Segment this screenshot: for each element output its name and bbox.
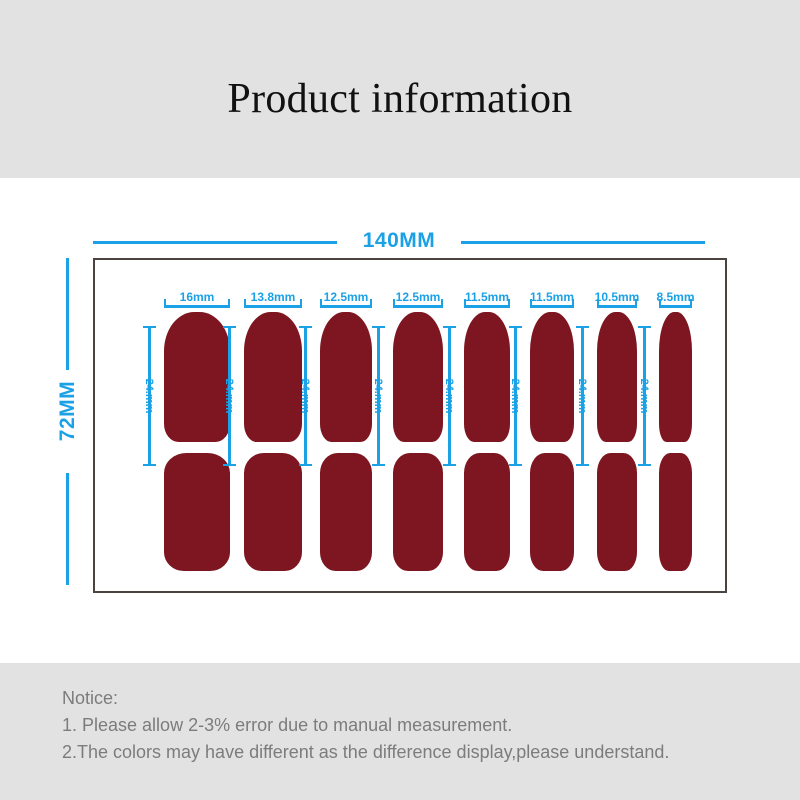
nail-height-dimension-1: 24.mm xyxy=(142,326,156,466)
height-dimension-cap-b xyxy=(223,464,236,466)
nail-height-dimension-8: 24.mm xyxy=(637,326,651,466)
height-dimension-cap-t xyxy=(223,326,236,328)
height-dimension-cap-t xyxy=(638,326,651,328)
width-dimension-bar xyxy=(244,305,302,308)
notice-block: Notice: 1. Please allow 2-3% error due t… xyxy=(62,685,772,766)
notice-line-2: 2.The colors may have different as the d… xyxy=(62,739,772,766)
overall-height-label: 72MM xyxy=(56,350,80,472)
height-dimension-cap-t xyxy=(372,326,385,328)
overall-width-label: 140MM xyxy=(93,230,705,252)
nail-sticker-bottom-3 xyxy=(320,453,372,571)
product-information-page: Product information 140MM 72MM 16mm24.mm… xyxy=(0,0,800,800)
nail-sticker-bottom-5 xyxy=(464,453,510,571)
nail-sticker-top-4 xyxy=(393,312,443,442)
height-dimension-cap-t xyxy=(443,326,456,328)
nail-width-dimension-1: 16mm xyxy=(164,286,230,308)
overall-width-dimension: 140MM xyxy=(93,230,705,252)
nail-height-label-6: 24.mm xyxy=(509,379,521,414)
nail-grid: 16mm24.mm13.8mm24.mm12.5mm24.mm12.5mm24.… xyxy=(95,260,729,595)
nail-sticker-bottom-2 xyxy=(244,453,302,571)
nail-height-dimension-7: 24.mm xyxy=(575,326,589,466)
nail-height-dimension-6: 24.mm xyxy=(508,326,522,466)
nail-height-label-3: 24.mm xyxy=(299,379,311,414)
nail-sticker-bottom-1 xyxy=(164,453,230,571)
nail-width-label-2: 13.8mm xyxy=(230,291,316,304)
nail-sticker-top-1 xyxy=(164,312,230,442)
nail-width-label-3: 12.5mm xyxy=(306,291,386,304)
width-dimension-bar xyxy=(464,305,510,308)
nail-width-dimension-7: 10.5mm xyxy=(597,286,637,308)
width-dimension-bar xyxy=(597,305,637,308)
nail-height-label-4: 24.mm xyxy=(372,379,384,414)
nail-width-label-8: 8.5mm xyxy=(645,291,706,304)
nail-height-label-1: 24.mm xyxy=(143,379,155,414)
nail-height-dimension-4: 24.mm xyxy=(371,326,385,466)
nail-width-dimension-3: 12.5mm xyxy=(320,286,372,308)
height-dimension-cap-b xyxy=(509,464,522,466)
width-dimension-bar xyxy=(164,305,230,308)
page-title: Product information xyxy=(0,74,800,124)
notice-heading: Notice: xyxy=(62,685,772,712)
nail-sticker-bottom-8 xyxy=(659,453,692,571)
nail-height-dimension-2: 24.mm xyxy=(222,326,236,466)
overall-height-dimension: 72MM xyxy=(55,258,81,585)
nail-width-dimension-8: 8.5mm xyxy=(659,286,692,308)
footer-band: Notice: 1. Please allow 2-3% error due t… xyxy=(0,663,800,800)
nail-width-label-7: 10.5mm xyxy=(583,291,651,304)
height-dimension-cap-b xyxy=(638,464,651,466)
nail-height-label-7: 24.mm xyxy=(576,379,588,414)
nail-height-label-5: 24.mm xyxy=(443,379,455,414)
nail-height-dimension-3: 24.mm xyxy=(298,326,312,466)
width-dimension-bar xyxy=(393,305,443,308)
height-dimension-cap-b xyxy=(372,464,385,466)
height-dimension-cap-b xyxy=(443,464,456,466)
nail-sticker-top-3 xyxy=(320,312,372,442)
height-dimension-cap-t xyxy=(576,326,589,328)
height-dimension-cap-b xyxy=(143,464,156,466)
nail-sticker-top-6 xyxy=(530,312,574,442)
height-dimension-cap-b xyxy=(576,464,589,466)
nail-sticker-bottom-7 xyxy=(597,453,637,571)
nail-width-dimension-4: 12.5mm xyxy=(393,286,443,308)
nail-width-dimension-5: 11.5mm xyxy=(464,286,510,308)
height-dimension-cap-t xyxy=(509,326,522,328)
nail-sticker-bottom-4 xyxy=(393,453,443,571)
height-dimension-cap-t xyxy=(299,326,312,328)
notice-line-1: 1. Please allow 2-3% error due to manual… xyxy=(62,712,772,739)
width-dimension-bar xyxy=(530,305,574,308)
nail-sticker-bottom-6 xyxy=(530,453,574,571)
height-dimension-line-bottom xyxy=(66,473,69,585)
nail-height-label-8: 24.mm xyxy=(638,379,650,414)
nail-width-dimension-6: 11.5mm xyxy=(530,286,574,308)
height-dimension-cap-t xyxy=(143,326,156,328)
height-dimension-cap-b xyxy=(299,464,312,466)
nail-sticker-top-5 xyxy=(464,312,510,442)
nail-width-label-4: 12.5mm xyxy=(379,291,457,304)
nail-width-dimension-2: 13.8mm xyxy=(244,286,302,308)
nail-height-label-2: 24.mm xyxy=(223,379,235,414)
header-band: Product information xyxy=(0,0,800,178)
nail-sticker-top-8 xyxy=(659,312,692,442)
nail-height-dimension-5: 24.mm xyxy=(442,326,456,466)
nail-sticker-top-2 xyxy=(244,312,302,442)
width-dimension-bar xyxy=(320,305,372,308)
nail-sheet-panel: 16mm24.mm13.8mm24.mm12.5mm24.mm12.5mm24.… xyxy=(93,258,727,593)
width-dimension-bar xyxy=(659,305,692,308)
nail-sticker-top-7 xyxy=(597,312,637,442)
nail-width-label-5: 11.5mm xyxy=(450,291,524,304)
nail-width-label-6: 11.5mm xyxy=(516,291,588,304)
